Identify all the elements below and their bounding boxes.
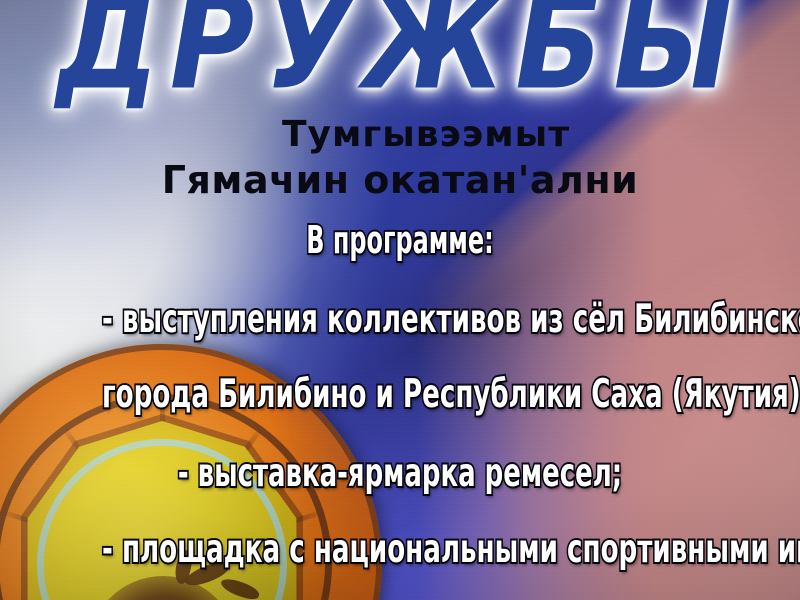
program-heading: В программе:	[120, 218, 680, 262]
program-item-4: - площадка с национальными спортивными и…	[102, 527, 698, 572]
program-item-2: города Билибино и Республики Саха (Якути…	[102, 372, 698, 417]
program-item-1: - выступления коллективов из сёл Билибин…	[102, 297, 698, 342]
poster-subtitle-line1: Тумгывээмыт	[0, 114, 800, 155]
program-item-3: - выставка-ярмарка ремесел;	[104, 451, 696, 496]
poster-canvas: ДРУЖБЫ Тумгывээмыт Гямачин окатан'ални В…	[0, 0, 800, 600]
poster-subtitle-line2: Гямачин окатан'ални	[0, 158, 800, 202]
